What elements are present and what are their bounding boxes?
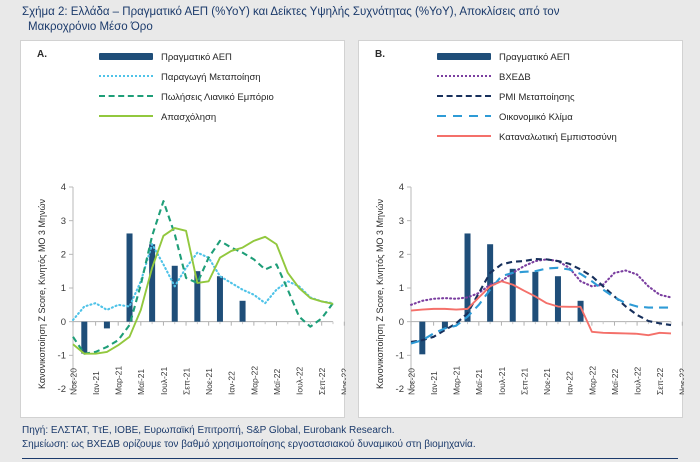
svg-text:Μαϊ-22: Μαϊ-22	[610, 369, 620, 395]
svg-text:3: 3	[61, 216, 66, 227]
svg-text:4: 4	[61, 182, 66, 193]
svg-text:Μαϊ-21: Μαϊ-21	[474, 369, 484, 395]
panel-b-y-axis-title: Κανονικοποίηση Z Score, Κινητός ΜΟ 3 Μην…	[375, 199, 385, 389]
footer-source: Πηγή: ΕΛΣΤΑΤ, ΤτΕ, ΙΟΒΕ, Ευρωπαϊκή Επιτρ…	[22, 424, 678, 438]
svg-text:1: 1	[399, 283, 404, 294]
svg-text:Νοε-20: Νοε-20	[68, 368, 78, 395]
svg-text:0: 0	[399, 317, 404, 328]
svg-text:Ιουλ-22: Ιουλ-22	[294, 366, 304, 395]
footer-rule	[22, 458, 678, 459]
series-line	[73, 228, 333, 354]
bar	[127, 233, 133, 321]
svg-text:Ιαν-22: Ιαν-22	[565, 371, 575, 395]
svg-text:Μαρ-22: Μαρ-22	[587, 366, 597, 395]
svg-text:Σεπ-21: Σεπ-21	[181, 368, 191, 395]
bar	[172, 266, 178, 322]
panel-a: Α. Πραγματικό ΑΕΠΠαραγωγή ΜεταποίησηΠωλή…	[20, 40, 345, 418]
panel-a-y-axis-title: Κανονικοποίηση Z Score, Κινητός ΜΟ 3 Μην…	[37, 199, 47, 389]
svg-text:-2: -2	[58, 384, 66, 395]
svg-text:Μαρ-21: Μαρ-21	[452, 366, 462, 395]
footer-note: Σημείωση: ως ΒΧΕΔΒ ορίζουμε τον βαθμό χρ…	[22, 438, 678, 452]
svg-text:2: 2	[399, 250, 404, 261]
svg-text:-1: -1	[58, 351, 66, 362]
panel-a-plot: -2-101234Νοε-20Ιαν-21Μαρ-21Μαϊ-21Ιουλ-21…	[21, 41, 344, 417]
svg-text:2: 2	[61, 250, 66, 261]
svg-text:Σεπ-21: Σεπ-21	[519, 368, 529, 395]
bar	[104, 322, 110, 329]
svg-text:Ιουλ-22: Ιουλ-22	[632, 366, 642, 395]
panel-a-svg: -2-101234Νοε-20Ιαν-21Μαρ-21Μαϊ-21Ιουλ-21…	[21, 41, 346, 419]
svg-text:Σεπ-22: Σεπ-22	[655, 368, 665, 395]
svg-text:0: 0	[61, 317, 66, 328]
bar	[555, 276, 561, 321]
bar	[419, 322, 425, 355]
svg-text:Νοε-22: Νοε-22	[678, 368, 684, 395]
svg-text:Μαρ-22: Μαρ-22	[249, 366, 259, 395]
series-line	[411, 268, 671, 344]
svg-text:Νοε-21: Νοε-21	[542, 368, 552, 395]
figure-title: Σχήμα 2: Ελλάδα – Πραγματικό ΑΕΠ (%YoY) …	[0, 0, 700, 38]
svg-text:3: 3	[399, 216, 404, 227]
figure-title-line2: Μακροχρόνιο Μέσο Όρο	[22, 20, 678, 35]
svg-text:Μαϊ-22: Μαϊ-22	[272, 369, 282, 395]
panel-b-plot: -2-101234Νοε-20Ιαν-21Μαρ-21Μαϊ-21Ιουλ-21…	[359, 41, 682, 417]
bar	[217, 276, 223, 321]
figure-title-line1: Σχήμα 2: Ελλάδα – Πραγματικό ΑΕΠ (%YoY) …	[22, 5, 678, 20]
svg-text:Μαρ-21: Μαρ-21	[114, 366, 124, 395]
svg-text:-2: -2	[396, 384, 404, 395]
svg-text:Σεπ-22: Σεπ-22	[317, 368, 327, 395]
svg-text:Ιαν-21: Ιαν-21	[91, 371, 101, 395]
bar	[149, 244, 155, 321]
svg-text:1: 1	[61, 283, 66, 294]
svg-text:Νοε-22: Νοε-22	[340, 368, 346, 395]
panel-b-svg: -2-101234Νοε-20Ιαν-21Μαρ-21Μαϊ-21Ιουλ-21…	[359, 41, 684, 419]
bar	[510, 269, 516, 322]
svg-text:Ιαν-22: Ιαν-22	[227, 371, 237, 395]
svg-text:Ιαν-21: Ιαν-21	[429, 371, 439, 395]
svg-text:4: 4	[399, 182, 404, 193]
panel-b: Β. Πραγματικό ΑΕΠΒΧΕΔΒPMI ΜεταποίησηςΟικ…	[358, 40, 683, 418]
series-line	[73, 201, 333, 354]
figure-footer: Πηγή: ΕΛΣΤΑΤ, ΤτΕ, ΙΟΒΕ, Ευρωπαϊκή Επιτρ…	[0, 420, 700, 462]
svg-text:Ιουλ-21: Ιουλ-21	[497, 366, 507, 395]
series-line	[411, 259, 671, 304]
chart-area: Α. Πραγματικό ΑΕΠΠαραγωγή ΜεταποίησηΠωλή…	[0, 38, 700, 420]
bar	[487, 244, 493, 321]
svg-text:Νοε-21: Νοε-21	[204, 368, 214, 395]
svg-text:Νοε-20: Νοε-20	[406, 368, 416, 395]
svg-text:-1: -1	[396, 351, 404, 362]
svg-text:Μαϊ-21: Μαϊ-21	[136, 369, 146, 395]
svg-text:Ιουλ-21: Ιουλ-21	[159, 366, 169, 395]
bar	[240, 301, 246, 322]
